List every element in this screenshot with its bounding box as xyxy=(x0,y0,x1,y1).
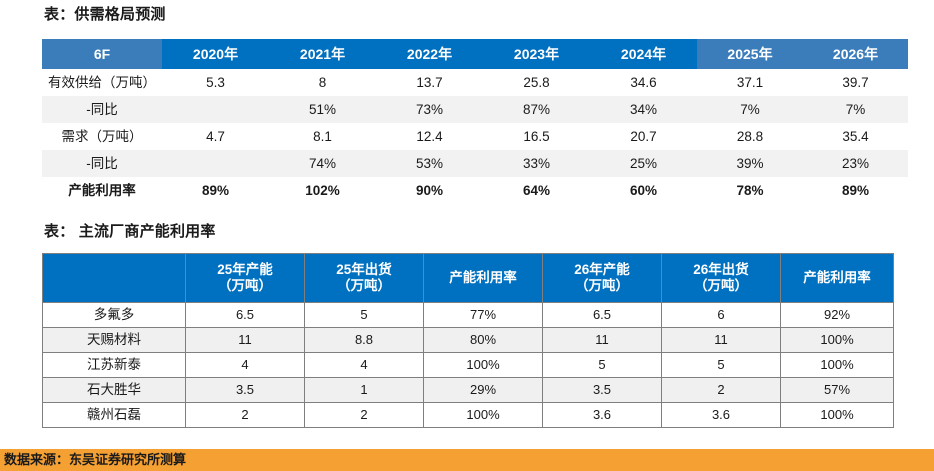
table2-cell-0-2: 77% xyxy=(424,303,543,328)
table2-body: 多氟多6.5577%6.5692%天赐材料118.880%1111100%江苏新… xyxy=(43,303,894,428)
table1-cell-3-0 xyxy=(162,150,269,177)
manufacturer-utilization-table: 25年产能 （万吨）25年出货 （万吨）产能利用率26年产能 （万吨）26年出货… xyxy=(42,253,894,428)
supply-demand-table-container: 6F2020年2021年2022年2023年2024年2025年2026年 有效… xyxy=(42,39,908,204)
table2-cell-2-2: 100% xyxy=(424,353,543,378)
table-row: 有效供给（万吨）5.3813.725.834.637.139.7 xyxy=(42,69,908,96)
table1-cell-3-4: 25% xyxy=(590,150,697,177)
table2-cell-1-0: 11 xyxy=(186,328,305,353)
table2-cell-1-1: 8.8 xyxy=(305,328,424,353)
table1-cell-2-2: 12.4 xyxy=(376,123,483,150)
table2-cell-4-2: 100% xyxy=(424,403,543,428)
table2-header-cell-0 xyxy=(43,254,186,303)
table-row: 多氟多6.5577%6.5692% xyxy=(43,303,894,328)
table1-cell-3-6: 23% xyxy=(803,150,908,177)
table2-company-name-0: 多氟多 xyxy=(43,303,186,328)
table1-row-label-3: -同比 xyxy=(42,150,162,177)
table2-cell-1-4: 11 xyxy=(662,328,781,353)
table2-cell-2-0: 4 xyxy=(186,353,305,378)
table1-cell-0-6: 39.7 xyxy=(803,69,908,96)
table1-cell-2-4: 20.7 xyxy=(590,123,697,150)
table1-header-row: 6F2020年2021年2022年2023年2024年2025年2026年 xyxy=(42,39,908,69)
table-row: 产能利用率89%102%90%64%60%78%89% xyxy=(42,177,908,204)
table2-header-cell-1: 25年产能 （万吨） xyxy=(186,254,305,303)
table1-cell-0-2: 13.7 xyxy=(376,69,483,96)
table1-cell-4-1: 102% xyxy=(269,177,376,204)
table2-cell-3-2: 29% xyxy=(424,378,543,403)
table1-header-cell-1: 2020年 xyxy=(162,39,269,69)
table2-header-cell-5: 26年出货 （万吨） xyxy=(662,254,781,303)
table2-cell-3-3: 3.5 xyxy=(543,378,662,403)
table2-header-cell-4: 26年产能 （万吨） xyxy=(543,254,662,303)
table-row: 江苏新泰44100%55100% xyxy=(43,353,894,378)
table1-cell-1-4: 34% xyxy=(590,96,697,123)
table1-cell-1-3: 87% xyxy=(483,96,590,123)
table1-title: 表：供需格局预测 xyxy=(44,3,166,24)
table1-cell-0-3: 25.8 xyxy=(483,69,590,96)
table2-header-cell-3: 产能利用率 xyxy=(424,254,543,303)
table1-header-cell-2: 2021年 xyxy=(269,39,376,69)
table1-row-label-2: 需求（万吨） xyxy=(42,123,162,150)
table2-cell-0-3: 6.5 xyxy=(543,303,662,328)
table2-cell-1-3: 11 xyxy=(543,328,662,353)
table1-header-cell-0: 6F xyxy=(42,39,162,69)
table2-header-cell-2: 25年出货 （万吨） xyxy=(305,254,424,303)
table1-cell-0-4: 34.6 xyxy=(590,69,697,96)
table2-cell-0-1: 5 xyxy=(305,303,424,328)
table2-cell-0-0: 6.5 xyxy=(186,303,305,328)
table-row: 石大胜华3.5129%3.5257% xyxy=(43,378,894,403)
table2-company-name-3: 石大胜华 xyxy=(43,378,186,403)
table1-cell-3-1: 74% xyxy=(269,150,376,177)
table1-cell-4-0: 89% xyxy=(162,177,269,204)
table1-cell-0-0: 5.3 xyxy=(162,69,269,96)
table1-cell-2-1: 8.1 xyxy=(269,123,376,150)
table1-header-cell-6: 2025年 xyxy=(697,39,803,69)
table1-cell-4-4: 60% xyxy=(590,177,697,204)
source-text: 数据来源：东吴证券研究所测算 xyxy=(4,451,186,469)
table2-cell-2-4: 5 xyxy=(662,353,781,378)
table1-cell-1-1: 51% xyxy=(269,96,376,123)
table1-cell-3-5: 39% xyxy=(697,150,803,177)
table2-cell-2-5: 100% xyxy=(781,353,894,378)
table1-cell-1-5: 7% xyxy=(697,96,803,123)
table1-cell-0-1: 8 xyxy=(269,69,376,96)
table2-cell-3-0: 3.5 xyxy=(186,378,305,403)
source-bar: 数据来源：东吴证券研究所测算 xyxy=(0,449,934,471)
table2-cell-1-5: 100% xyxy=(781,328,894,353)
table2-cell-3-1: 1 xyxy=(305,378,424,403)
table2-cell-3-4: 2 xyxy=(662,378,781,403)
table-row: -同比74%53%33%25%39%23% xyxy=(42,150,908,177)
table1-cell-2-0: 4.7 xyxy=(162,123,269,150)
table2-cell-2-3: 5 xyxy=(543,353,662,378)
table2-cell-3-5: 57% xyxy=(781,378,894,403)
table1-cell-2-3: 16.5 xyxy=(483,123,590,150)
table2-title: 表： 主流厂商产能利用率 xyxy=(44,220,216,241)
table2-header-row: 25年产能 （万吨）25年出货 （万吨）产能利用率26年产能 （万吨）26年出货… xyxy=(43,254,894,303)
table2-cell-2-1: 4 xyxy=(305,353,424,378)
table1-row-label-1: -同比 xyxy=(42,96,162,123)
table-row: 天赐材料118.880%1111100% xyxy=(43,328,894,353)
table1-cell-4-3: 64% xyxy=(483,177,590,204)
table-row: 赣州石磊22100%3.63.6100% xyxy=(43,403,894,428)
table1-header-cell-3: 2022年 xyxy=(376,39,483,69)
table1-row-label-0: 有效供给（万吨） xyxy=(42,69,162,96)
table2-cell-0-4: 6 xyxy=(662,303,781,328)
table2-cell-0-5: 92% xyxy=(781,303,894,328)
table-row: 需求（万吨）4.78.112.416.520.728.835.4 xyxy=(42,123,908,150)
supply-demand-table: 6F2020年2021年2022年2023年2024年2025年2026年 有效… xyxy=(42,39,908,204)
table1-cell-4-5: 78% xyxy=(697,177,803,204)
table1-cell-4-2: 90% xyxy=(376,177,483,204)
table1-row-label-4: 产能利用率 xyxy=(42,177,162,204)
table2-company-name-2: 江苏新泰 xyxy=(43,353,186,378)
table1-cell-1-0 xyxy=(162,96,269,123)
table1-body: 有效供给（万吨）5.3813.725.834.637.139.7-同比51%73… xyxy=(42,69,908,204)
table2-cell-1-2: 80% xyxy=(424,328,543,353)
table2-cell-4-1: 2 xyxy=(305,403,424,428)
table2-company-name-4: 赣州石磊 xyxy=(43,403,186,428)
table2-cell-4-5: 100% xyxy=(781,403,894,428)
manufacturer-utilization-table-container: 25年产能 （万吨）25年出货 （万吨）产能利用率26年产能 （万吨）26年出货… xyxy=(42,253,893,428)
table2-cell-4-3: 3.6 xyxy=(543,403,662,428)
table2-company-name-1: 天赐材料 xyxy=(43,328,186,353)
table1-header-cell-5: 2024年 xyxy=(590,39,697,69)
table1-cell-2-5: 28.8 xyxy=(697,123,803,150)
table2-header-cell-6: 产能利用率 xyxy=(781,254,894,303)
table1-cell-1-2: 73% xyxy=(376,96,483,123)
table1-cell-1-6: 7% xyxy=(803,96,908,123)
table1-header-cell-4: 2023年 xyxy=(483,39,590,69)
table1-cell-3-3: 33% xyxy=(483,150,590,177)
table1-cell-4-6: 89% xyxy=(803,177,908,204)
table1-cell-2-6: 35.4 xyxy=(803,123,908,150)
slide-page: 表：供需格局预测 6F2020年2021年2022年2023年2024年2025… xyxy=(0,0,934,471)
table2-cell-4-4: 3.6 xyxy=(662,403,781,428)
table-row: -同比51%73%87%34%7%7% xyxy=(42,96,908,123)
table1-cell-3-2: 53% xyxy=(376,150,483,177)
table2-cell-4-0: 2 xyxy=(186,403,305,428)
table1-header-cell-7: 2026年 xyxy=(803,39,908,69)
table1-cell-0-5: 37.1 xyxy=(697,69,803,96)
